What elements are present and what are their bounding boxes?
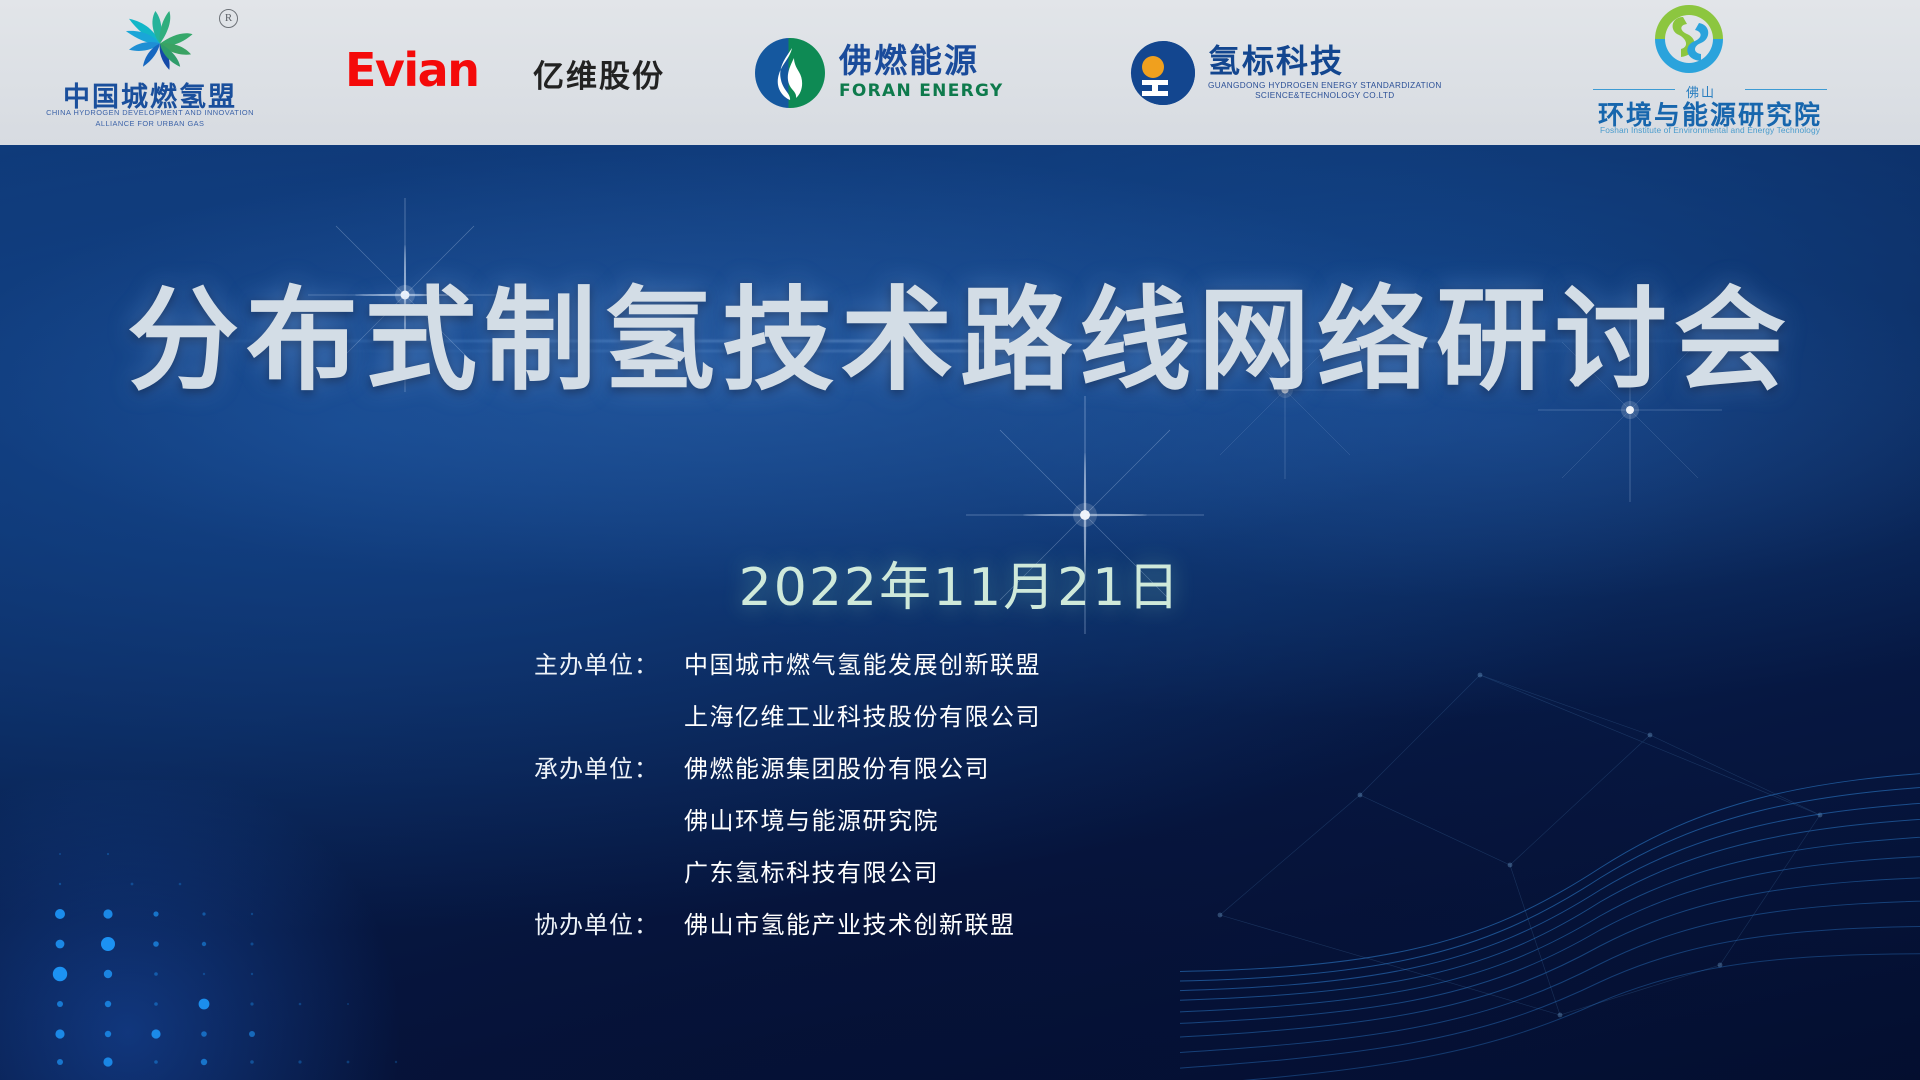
credit-label: 承办单位： — [534, 749, 684, 784]
ghes-en-line2: SCIENCE&TECHNOLOGY CO.LTD — [1208, 91, 1442, 100]
poster-stage: 分布式制氢技术路线网络研讨会 2022年11月21日 主办单位： 中国城市燃气氢… — [0, 145, 1920, 1080]
credit-row: 佛山环境与能源研究院 — [534, 801, 1434, 853]
credit-value: 中国城市燃气氢能发展创新联盟 — [684, 645, 1041, 680]
registered-trademark-icon: R — [219, 9, 238, 28]
organizer-credits: 主办单位： 中国城市燃气氢能发展创新联盟 上海亿维工业科技股份有限公司 承办单位… — [534, 645, 1434, 957]
foran-cn-name: 佛燃能源 — [839, 44, 1004, 79]
credit-value: 佛山市氢能产业技术创新联盟 — [684, 905, 1016, 940]
dot-matrix-decoration — [40, 840, 460, 1080]
logo-evian-yiwei: Evian 亿维股份 — [300, 0, 720, 145]
fieet-en-name: Foshan Institute of Environmental and En… — [1585, 125, 1835, 135]
fieet-city-rule: 佛山 — [1593, 84, 1827, 95]
credit-value: 广东氢标科技有限公司 — [684, 853, 939, 888]
credit-row: 协办单位： 佛山市氢能产业技术创新联盟 — [534, 905, 1434, 957]
petal-flower-icon — [121, 11, 199, 73]
double-s-circle-icon — [1647, 3, 1731, 75]
corner-glow — [0, 780, 440, 1080]
credit-row: 承办单位： 佛燃能源集团股份有限公司 — [534, 749, 1434, 801]
credit-row: 主办单位： 中国城市燃气氢能发展创新联盟 — [534, 645, 1434, 697]
credit-value: 上海亿维工业科技股份有限公司 — [684, 697, 1041, 732]
credit-label: 主办单位： — [534, 645, 684, 680]
logo-foran-energy: 佛燃能源 FORAN ENERGY — [720, 0, 1100, 145]
credit-value: 佛燃能源集团股份有限公司 — [684, 749, 990, 784]
logo-guangdong-hydrogen-standardization: 氢标科技 GUANGDONG HYDROGEN ENERGY STANDARDI… — [1100, 0, 1500, 145]
flame-circle-icon — [755, 38, 825, 108]
credit-row: 上海亿维工业科技股份有限公司 — [534, 697, 1434, 749]
logo-foshan-institute: 佛山 环境与能源研究院 Foshan Institute of Environm… — [1500, 0, 1920, 145]
page-title: 分布式制氢技术路线网络研讨会 — [0, 250, 1920, 412]
evian-wordmark: Evian — [345, 43, 478, 97]
foran-en-name: FORAN ENERGY — [839, 81, 1004, 101]
ghes-cn-name: 氢标科技 — [1208, 45, 1442, 79]
ghes-en-line1: GUANGDONG HYDROGEN ENERGY STANDARDIZATIO… — [1208, 81, 1442, 90]
credit-label: 协办单位： — [534, 905, 684, 940]
sunrise-circle-icon — [1130, 40, 1196, 106]
credit-row: 广东氢标科技有限公司 — [534, 853, 1434, 905]
alliance-en-line2: ALLIANCE FOR URBAN GAS — [25, 119, 275, 128]
logo-china-hydrogen-alliance: R 中国城燃氢盟 CHINA HYDROGEN DEVELOPMENT AND … — [0, 0, 300, 145]
sponsor-logo-bar: R 中国城燃氢盟 CHINA HYDROGEN DEVELOPMENT AND … — [0, 0, 1920, 145]
event-date: 2022年11月21日 — [0, 545, 1920, 620]
credit-value: 佛山环境与能源研究院 — [684, 801, 939, 836]
evian-cn-name: 亿维股份 — [533, 51, 665, 96]
alliance-en-line1: CHINA HYDROGEN DEVELOPMENT AND INNOVATIO… — [25, 108, 275, 117]
